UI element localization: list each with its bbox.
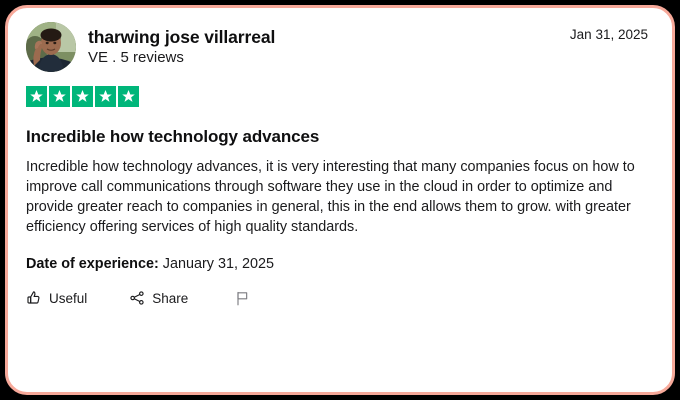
date-of-experience: Date of experience: January 31, 2025 (26, 256, 654, 272)
review-card: tharwing jose villarreal VE . 5 reviews … (5, 5, 675, 395)
review-header: tharwing jose villarreal VE . 5 reviews … (26, 22, 654, 72)
share-label: Share (152, 291, 188, 306)
share-button[interactable]: Share (129, 290, 188, 306)
star-rating (26, 86, 654, 107)
review-body-text: Incredible how technology advances, it i… (26, 158, 654, 238)
reviewer-identity[interactable]: tharwing jose villarreal VE . 5 reviews (26, 22, 275, 72)
useful-label: Useful (49, 291, 87, 306)
useful-button[interactable]: Useful (26, 290, 87, 306)
report-button[interactable] (235, 290, 258, 307)
star-icon (72, 86, 93, 107)
share-icon (129, 290, 145, 306)
date-of-experience-label: Date of experience: (26, 256, 159, 272)
reviewer-name[interactable]: tharwing jose villarreal (88, 27, 275, 48)
reviewer-info: tharwing jose villarreal VE . 5 reviews (88, 27, 275, 68)
avatar[interactable] (26, 22, 76, 72)
star-icon (118, 86, 139, 107)
review-date: Jan 31, 2025 (570, 22, 654, 42)
reviewer-meta: VE . 5 reviews (88, 49, 275, 68)
star-icon (26, 86, 47, 107)
review-title: Incredible how technology advances (26, 127, 654, 147)
star-icon (49, 86, 70, 107)
thumbs-up-icon (26, 290, 42, 306)
date-of-experience-value: January 31, 2025 (163, 256, 274, 272)
review-actions: Useful Share (26, 290, 654, 307)
star-icon (95, 86, 116, 107)
flag-icon (235, 290, 251, 307)
